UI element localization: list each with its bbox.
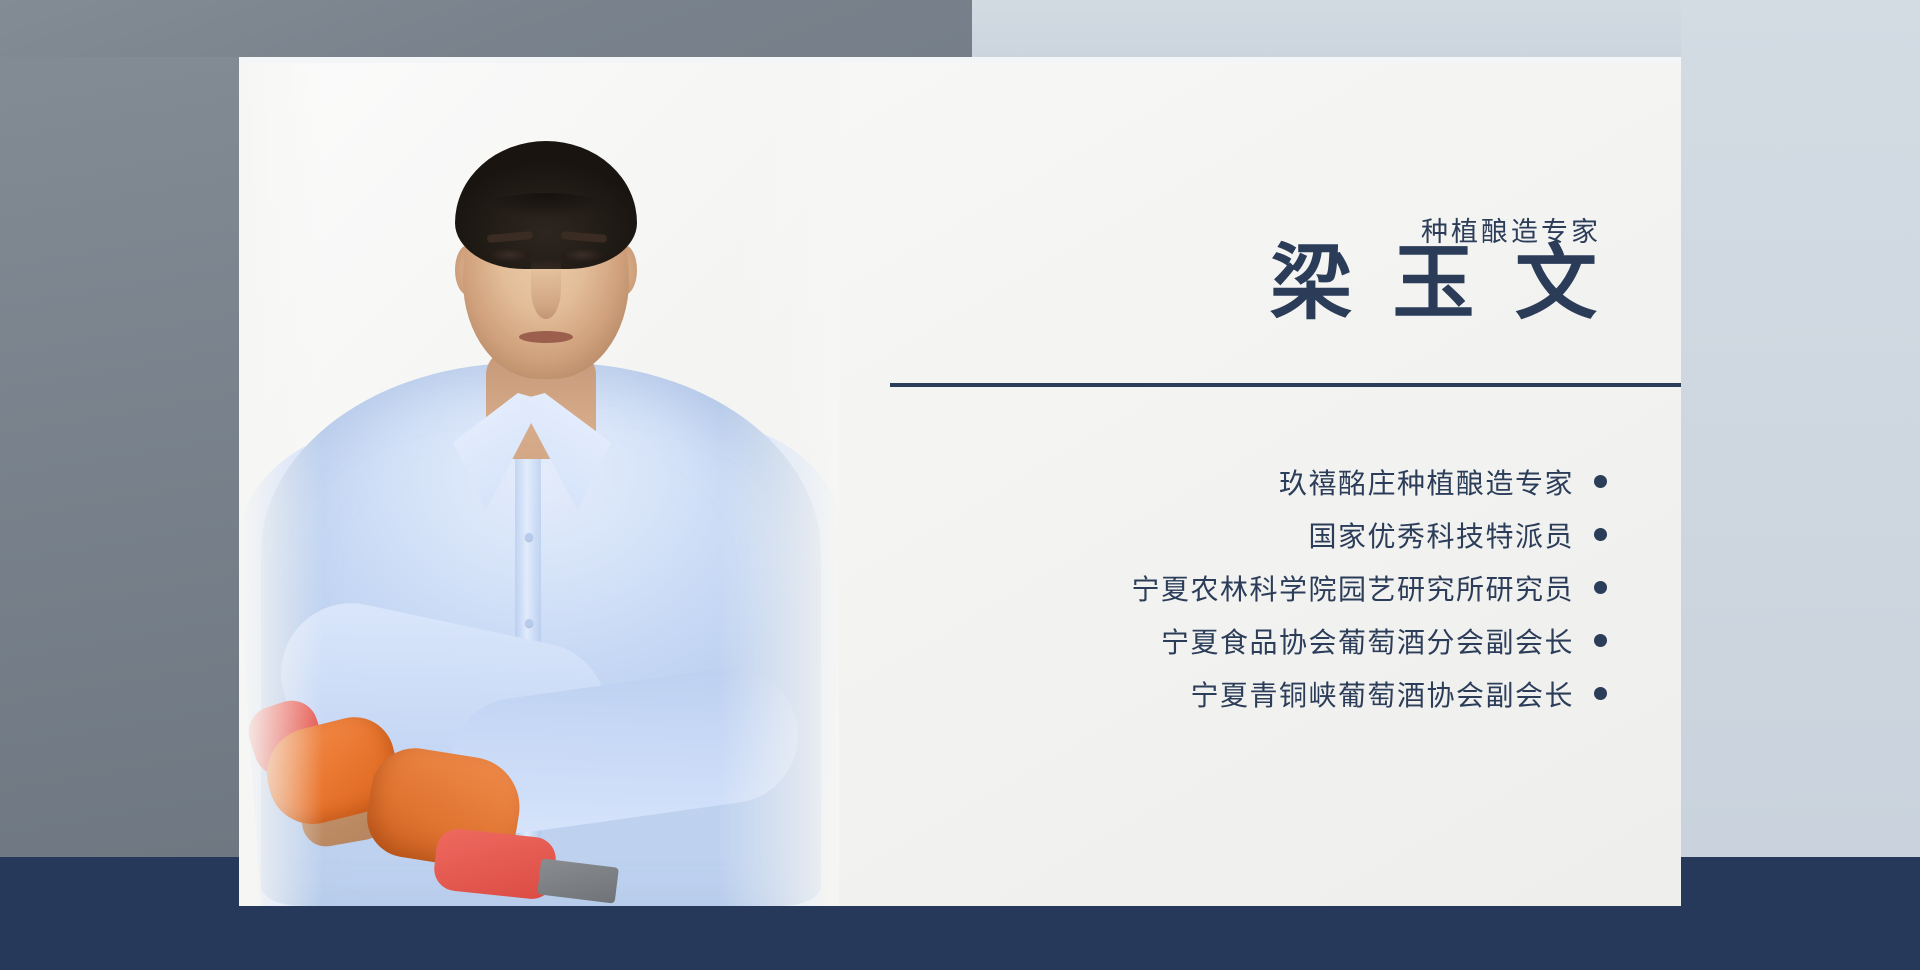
credential-label: 国家优秀科技特派员 — [1308, 515, 1574, 555]
list-item: 玖禧酩庄种植酿造专家 — [927, 455, 1607, 508]
shirt-button — [525, 619, 533, 627]
mouth — [519, 331, 573, 343]
credential-label: 宁夏农林科学院园艺研究所研究员 — [1131, 568, 1574, 608]
profile-text-column: 种植酿造专家 梁 玉 文 玖禧酩庄种植酿造专家 国家优秀科技特派员 宁夏农林科学… — [939, 63, 1681, 906]
divider-rule — [890, 383, 1681, 387]
list-item: 宁夏青铜峡葡萄酒协会副会长 — [927, 667, 1607, 720]
bullet-dot-icon — [1594, 475, 1607, 488]
credential-label: 玖禧酩庄种植酿造专家 — [1279, 462, 1574, 502]
nose — [531, 259, 561, 319]
background-panel-blue-right — [1681, 0, 1920, 857]
person-name: 梁 玉 文 — [1270, 241, 1607, 327]
eye-right — [562, 249, 602, 262]
background-panel-gray-top — [0, 0, 972, 57]
bullet-dot-icon — [1594, 634, 1607, 647]
credential-label: 宁夏食品协会葡萄酒分会副会长 — [1161, 621, 1574, 661]
list-item: 宁夏农林科学院园艺研究所研究员 — [927, 561, 1607, 614]
list-item: 宁夏食品协会葡萄酒分会副会长 — [927, 614, 1607, 667]
profile-card: 种植酿造专家 梁 玉 文 玖禧酩庄种植酿造专家 国家优秀科技特派员 宁夏农林科学… — [239, 63, 1681, 906]
bullet-dot-icon — [1594, 581, 1607, 594]
poster-canvas: 种植酿造专家 梁 玉 文 玖禧酩庄种植酿造专家 国家优秀科技特派员 宁夏农林科学… — [0, 0, 1920, 970]
bullet-dot-icon — [1594, 687, 1607, 700]
list-item: 国家优秀科技特派员 — [927, 508, 1607, 561]
portrait-photo — [239, 63, 839, 906]
eye-left — [490, 249, 530, 262]
bullet-dot-icon — [1594, 528, 1607, 541]
portrait-figure — [239, 63, 839, 906]
shirt-button — [525, 533, 533, 541]
credential-label: 宁夏青铜峡葡萄酒协会副会长 — [1190, 674, 1574, 714]
background-panel-gray-left — [0, 0, 239, 857]
credentials-list: 玖禧酩庄种植酿造专家 国家优秀科技特派员 宁夏农林科学院园艺研究所研究员 宁夏食… — [927, 455, 1607, 720]
